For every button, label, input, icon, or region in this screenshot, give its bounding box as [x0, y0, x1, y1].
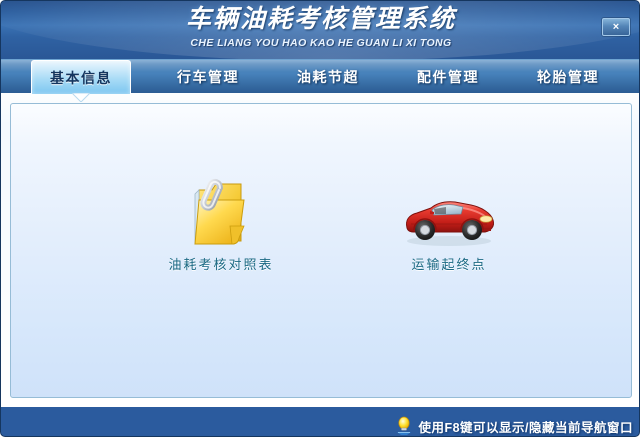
- tab-bar: 基本信息行车管理油耗节超配件管理轮胎管理: [1, 59, 640, 94]
- title-bar: 车辆油耗考核管理系统 CHE LIANG YOU HAO KAO HE GUAN…: [1, 1, 640, 59]
- status-bar-content: 使用F8键可以显示/隐藏当前导航窗口: [396, 407, 633, 437]
- page-subtitle: CHE LIANG YOU HAO KAO HE GUAN LI XI TONG: [1, 36, 640, 50]
- page-title: 车辆油耗考核管理系统: [1, 3, 640, 35]
- lightbulb-icon: [396, 416, 412, 436]
- tab-3[interactable]: 油耗节超: [273, 60, 383, 94]
- shortcut-label: 运输起终点: [384, 254, 514, 273]
- application-window: 车辆油耗考核管理系统 CHE LIANG YOU HAO KAO HE GUAN…: [0, 0, 640, 437]
- tab-2[interactable]: 行车管理: [153, 60, 263, 94]
- tab-4[interactable]: 配件管理: [393, 60, 503, 94]
- content-panel: 油耗考核对照表: [10, 103, 632, 398]
- folder-paperclip-icon: [186, 170, 256, 248]
- status-bar: 使用F8键可以显示/隐藏当前导航窗口: [1, 406, 640, 437]
- title-block: 车辆油耗考核管理系统 CHE LIANG YOU HAO KAO HE GUAN…: [1, 3, 640, 50]
- icon-container: [156, 162, 286, 248]
- body-area: 油耗考核对照表: [1, 93, 640, 406]
- icon-container: [384, 162, 514, 248]
- status-bar-text: 使用F8键可以显示/隐藏当前导航窗口: [418, 417, 633, 436]
- shortcut-fuel-comparison-table[interactable]: 油耗考核对照表: [156, 162, 286, 273]
- tab-1[interactable]: 基本信息: [31, 60, 131, 94]
- tab-5[interactable]: 轮胎管理: [513, 60, 623, 94]
- shortcut-transport-endpoints[interactable]: 运输起终点: [384, 162, 514, 273]
- red-car-icon: [401, 186, 497, 248]
- shortcut-label: 油耗考核对照表: [156, 254, 286, 273]
